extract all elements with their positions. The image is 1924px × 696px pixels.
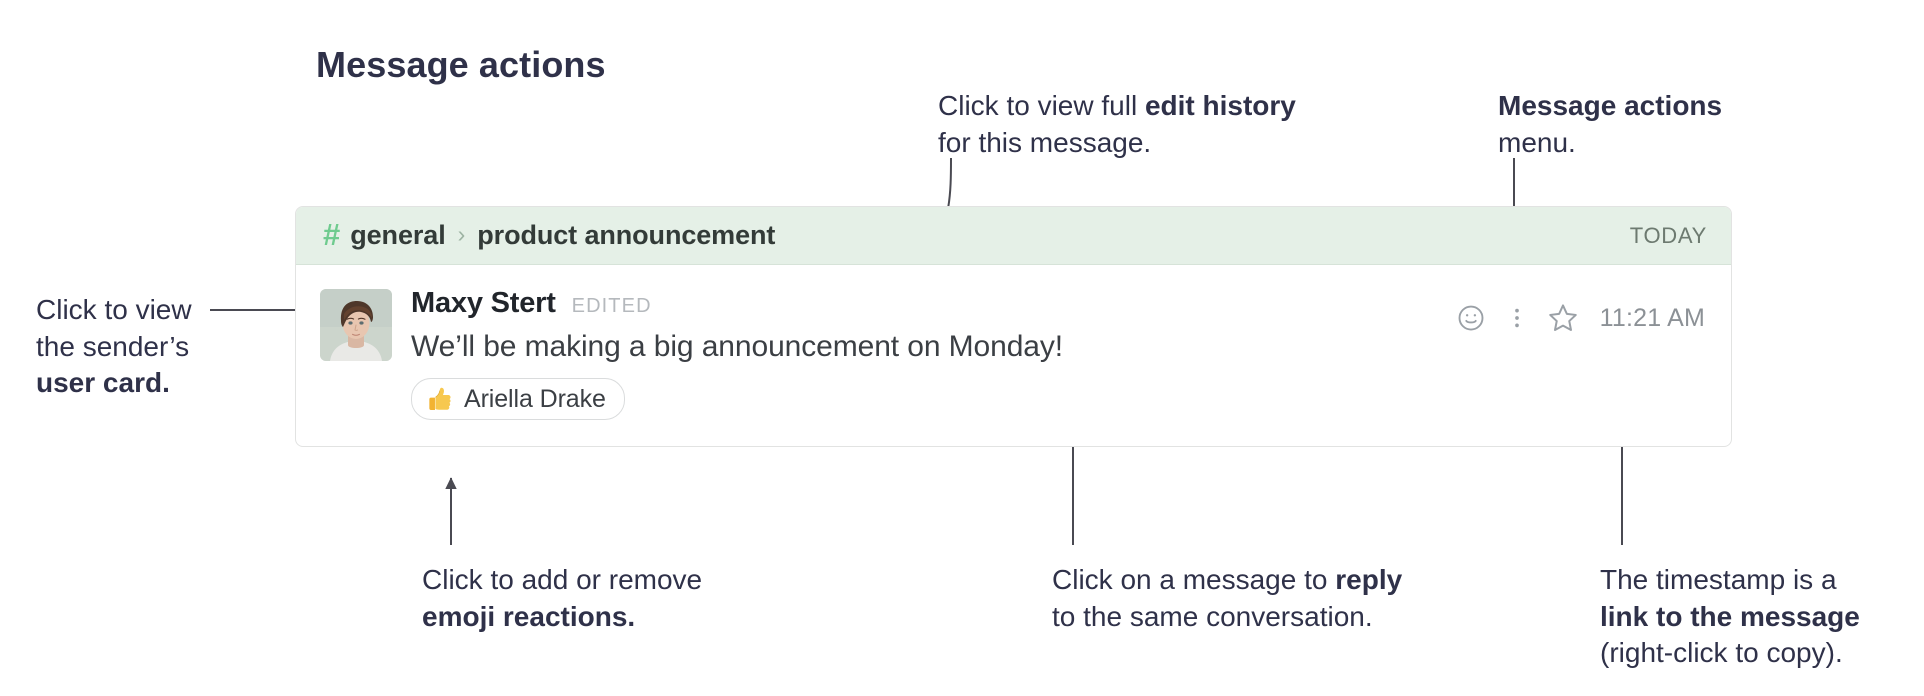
- annotation-reply: Click on a message to reply to the same …: [1052, 562, 1402, 635]
- recipient-bar[interactable]: # general › product announcement TODAY: [296, 207, 1731, 265]
- annotation-user-card: Click to view the sender’s user card.: [36, 292, 192, 402]
- message-actions-diagram: Message actions Click to view full edit …: [0, 0, 1924, 696]
- annotation-reply-text-1: Click on a message to: [1052, 564, 1335, 595]
- avatar[interactable]: [320, 289, 392, 361]
- annotation-actions-menu-text-2: menu.: [1498, 125, 1722, 162]
- emoji-reaction-icon-glyph: [1456, 303, 1486, 333]
- recipient-date[interactable]: TODAY: [1630, 223, 1707, 249]
- annotation-reply-text-2: to the same conversation.: [1052, 599, 1402, 636]
- message-card: # general › product announcement TODAY: [295, 206, 1732, 447]
- annotation-reply-bold: reply: [1335, 564, 1402, 595]
- annotation-timestamp: The timestamp is a link to the message (…: [1600, 562, 1860, 672]
- annotation-user-card-text-1: Click to view: [36, 292, 192, 329]
- annotation-emoji-reactions: Click to add or remove emoji reactions.: [422, 562, 702, 635]
- topic-name[interactable]: product announcement: [477, 220, 775, 251]
- reactions: Ariella Drake: [411, 378, 1707, 420]
- stream-name[interactable]: general: [350, 220, 445, 251]
- sender-name[interactable]: Maxy Stert: [411, 287, 556, 320]
- annotation-user-card-bold: user card.: [36, 367, 170, 398]
- annotation-timestamp-text-3: (right-click to copy).: [1600, 635, 1860, 672]
- annotation-edit-history: Click to view full edit history for this…: [938, 88, 1296, 161]
- thumbs-up-emoji-glyph: [424, 384, 454, 414]
- emoji-reaction-icon[interactable]: [1448, 299, 1494, 337]
- annotation-edit-history-text-2: for this message.: [938, 125, 1296, 162]
- annotation-timestamp-bold: link to the message: [1600, 601, 1860, 632]
- annotation-actions-menu: Message actions menu.: [1498, 88, 1722, 161]
- message-actions-menu-icon[interactable]: [1494, 299, 1540, 337]
- vertical-dots-icon-glyph: [1504, 303, 1530, 333]
- annotation-emoji-text-1: Click to add or remove: [422, 562, 702, 599]
- thumbs-up-emoji: [424, 384, 454, 414]
- hash-icon: #: [323, 219, 340, 250]
- message-row[interactable]: Maxy Stert EDITED We’ll be making a big …: [296, 265, 1731, 446]
- reaction-label: Ariella Drake: [464, 385, 606, 414]
- annotation-user-card-text-2: the sender’s: [36, 329, 192, 366]
- star-icon[interactable]: [1540, 299, 1586, 337]
- star-icon-glyph: [1547, 302, 1579, 334]
- reaction-pill[interactable]: Ariella Drake: [411, 378, 625, 420]
- annotation-emoji-bold: emoji reactions.: [422, 601, 635, 632]
- annotation-edit-history-text-1: Click to view full: [938, 90, 1145, 121]
- timestamp-link[interactable]: 11:21 AM: [1600, 304, 1705, 333]
- avatar-image: [320, 289, 392, 361]
- message-controls: 11:21 AM: [1448, 299, 1705, 337]
- annotation-timestamp-text-1: The timestamp is a: [1600, 562, 1860, 599]
- annotation-actions-menu-bold: Message actions: [1498, 90, 1722, 121]
- edited-label[interactable]: EDITED: [572, 295, 652, 318]
- chevron-right-icon: ›: [458, 221, 466, 248]
- annotation-edit-history-bold: edit history: [1145, 90, 1296, 121]
- page-title: Message actions: [316, 44, 606, 86]
